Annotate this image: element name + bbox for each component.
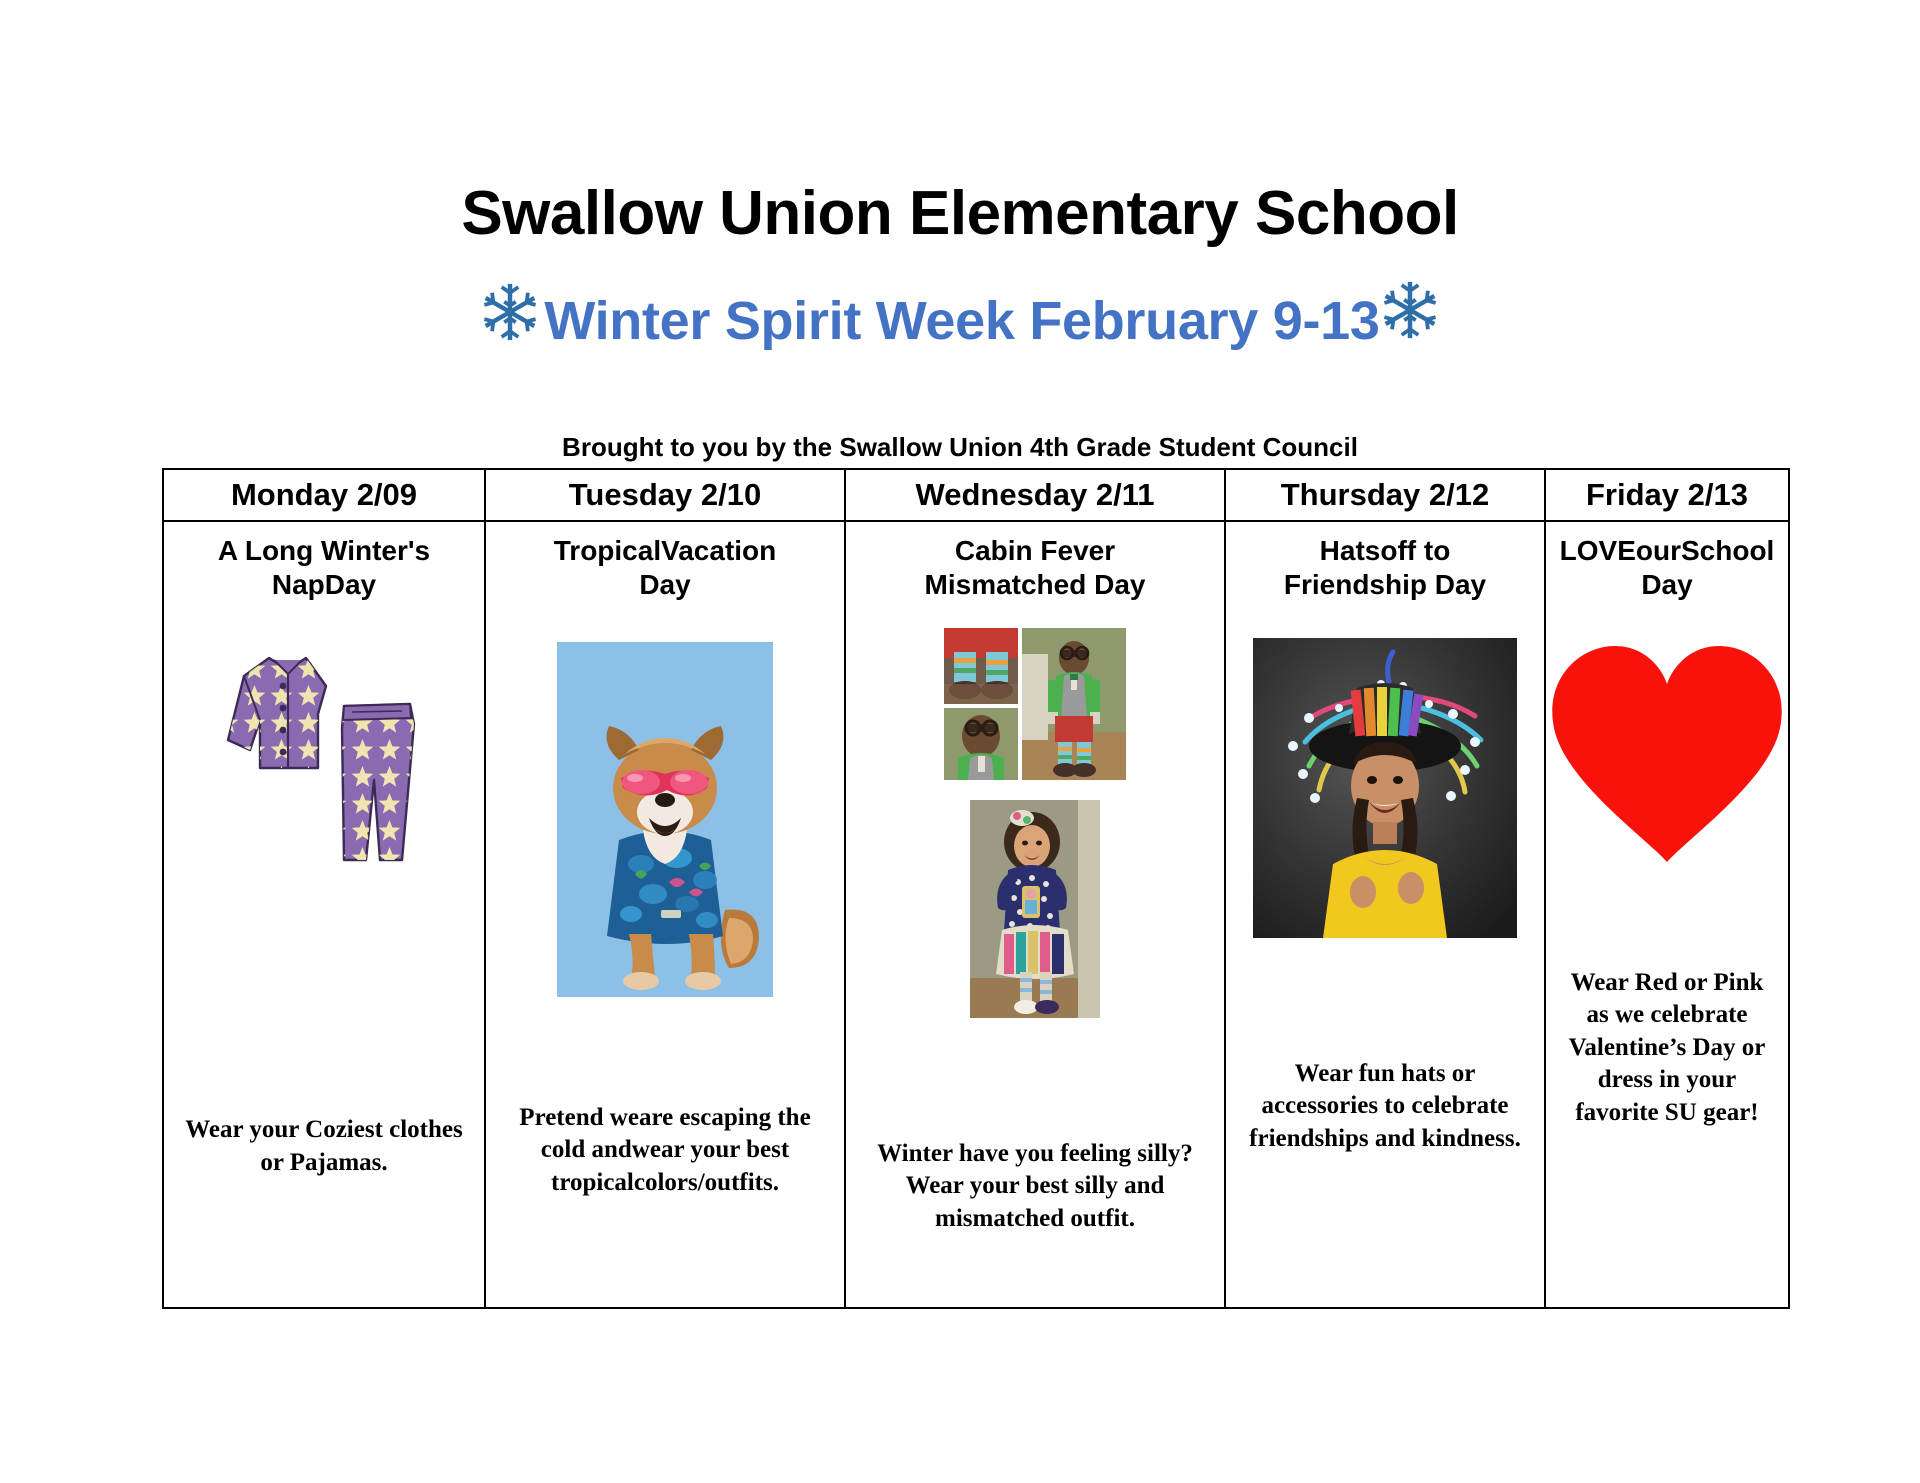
art-slot-friday bbox=[1552, 602, 1782, 873]
red-heart-icon bbox=[1543, 640, 1791, 873]
art-slot-wednesday-girl bbox=[852, 784, 1218, 1018]
art-slot-wednesday-collage bbox=[852, 602, 1218, 784]
day-column-wednesday: Wednesday 2/11 Cabin Fever Mismatched Da… bbox=[846, 470, 1226, 1307]
day-body-wednesday: Cabin Fever Mismatched Day bbox=[846, 522, 1224, 1307]
art-slot-thursday bbox=[1232, 602, 1538, 938]
spirit-week-heading: Winter Spirit Week February 9-13 bbox=[0, 294, 1920, 348]
spirit-week-schedule-table: Monday 2/09 A Long Winter's NapDay bbox=[162, 468, 1790, 1309]
day-header-thursday: Thursday 2/12 bbox=[1226, 470, 1544, 522]
day-header-friday: Friday 2/13 bbox=[1546, 470, 1788, 522]
day-column-thursday: Thursday 2/12 Hatsoff to Friendship Day bbox=[1226, 470, 1546, 1307]
description-monday: Wear your Coziest clothes or Pajamas. bbox=[170, 1114, 478, 1179]
day-body-monday: A Long Winter's NapDay bbox=[164, 522, 484, 1307]
day-body-friday: LOVEourSchool Day Wear Red or Pink as we… bbox=[1546, 522, 1788, 1307]
theme-title-friday: LOVEourSchool Day bbox=[1560, 534, 1775, 602]
theme-title-tuesday: TropicalVacation Day bbox=[554, 534, 777, 602]
description-friday: Wear Red or Pink as we celebrate Valenti… bbox=[1552, 967, 1782, 1130]
day-header-monday: Monday 2/09 bbox=[164, 470, 484, 522]
girl-in-mismatched-outfit-photo bbox=[970, 800, 1100, 1018]
flyer-page: Swallow Union Elementary School bbox=[0, 0, 1920, 1483]
day-header-wednesday: Wednesday 2/11 bbox=[846, 470, 1224, 522]
art-slot-monday bbox=[170, 602, 478, 923]
day-body-thursday: Hatsoff to Friendship Day bbox=[1226, 522, 1544, 1307]
day-body-tuesday: TropicalVacation Day bbox=[486, 522, 844, 1307]
girl-in-light-up-hat-photo bbox=[1253, 638, 1517, 938]
page-title: Swallow Union Elementary School bbox=[0, 183, 1920, 245]
description-thursday: Wear fun hats or accessories to celebrat… bbox=[1232, 1058, 1538, 1156]
day-header-tuesday: Tuesday 2/10 bbox=[486, 470, 844, 522]
theme-title-monday: A Long Winter's NapDay bbox=[218, 534, 430, 602]
description-wednesday: Winter have you feeling silly? Wear your… bbox=[852, 1138, 1218, 1236]
day-column-monday: Monday 2/09 A Long Winter's NapDay bbox=[164, 470, 486, 1307]
credit-line: Brought to you by the Swallow Union 4th … bbox=[0, 432, 1920, 463]
description-tuesday: Pretend weare escaping the cold andwear … bbox=[492, 1102, 838, 1200]
theme-title-thursday: Hatsoff to Friendship Day bbox=[1284, 534, 1486, 602]
snowflake-icon bbox=[1378, 278, 1442, 342]
mismatched-outfit-collage-photo bbox=[940, 624, 1130, 784]
art-slot-tuesday bbox=[492, 602, 838, 997]
day-column-friday: Friday 2/13 LOVEourSchool Day Wear Red o… bbox=[1546, 470, 1788, 1307]
pajamas-illustration bbox=[214, 628, 434, 923]
dog-in-hawaiian-shirt-photo bbox=[557, 642, 773, 997]
theme-title-wednesday: Cabin Fever Mismatched Day bbox=[925, 534, 1146, 602]
day-column-tuesday: Tuesday 2/10 TropicalVacation Day bbox=[486, 470, 846, 1307]
spirit-week-title: Winter Spirit Week February 9-13 bbox=[538, 294, 1385, 348]
snowflake-icon bbox=[478, 280, 542, 344]
